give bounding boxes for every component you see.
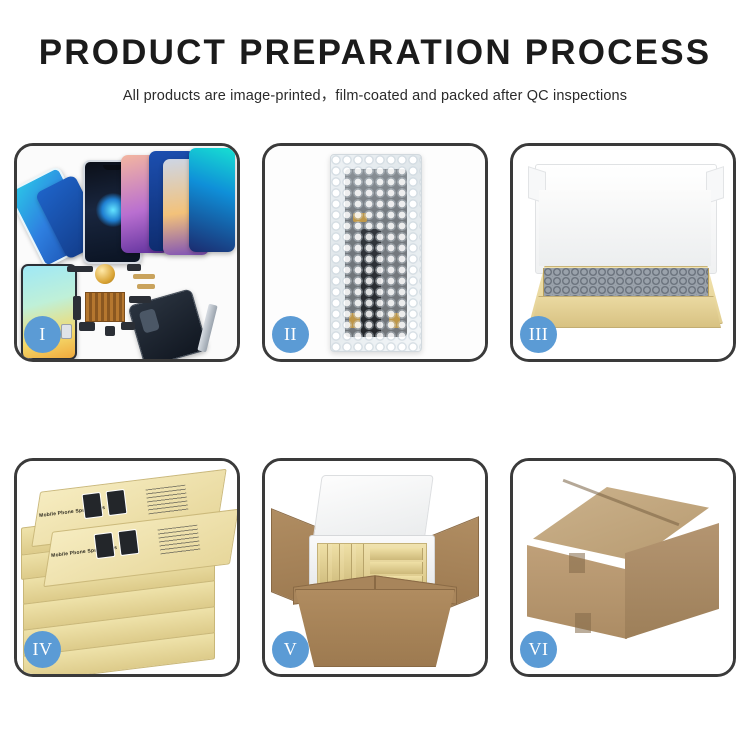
box-phone-thumb-4 xyxy=(118,529,140,556)
page-title: PRODUCT PREPARATION PROCESS xyxy=(0,34,750,73)
styrofoam-lid-icon xyxy=(312,475,434,543)
part-chip-6 xyxy=(121,322,135,330)
process-panel-grid: I II III xyxy=(14,143,736,677)
box-phone-thumb-2 xyxy=(106,489,128,516)
panel-badge-3: III xyxy=(520,316,557,353)
box-front-panel-icon xyxy=(531,296,721,328)
box-spec-lines-1 xyxy=(146,485,189,516)
process-panel-4[interactable]: Mobile Phone Spare Parts Mobile Phone Sp… xyxy=(14,458,240,677)
box-spec-lines-2 xyxy=(158,525,201,556)
panel-badge-4: IV xyxy=(24,631,61,668)
carton-body-icon xyxy=(295,589,455,667)
part-chip-7 xyxy=(129,296,151,303)
panel-badge-1: I xyxy=(24,316,61,353)
part-chip-4 xyxy=(79,322,95,331)
process-panel-2[interactable]: II xyxy=(262,143,488,362)
panel-badge-6: VI xyxy=(520,631,557,668)
logic-board-icon xyxy=(85,292,125,322)
vibration-motor-icon xyxy=(95,264,115,284)
panel-badge-2: II xyxy=(272,316,309,353)
part-flex-1 xyxy=(133,274,155,279)
carton-tape-lower xyxy=(575,613,591,633)
part-flex-2 xyxy=(137,284,155,289)
bubble-texture-overlay xyxy=(331,155,421,351)
bubble-wrap-fill-icon xyxy=(543,268,709,300)
part-chip-1 xyxy=(67,266,93,272)
page-subtitle: All products are image-printed，film-coat… xyxy=(0,84,750,105)
process-panel-5[interactable]: V xyxy=(262,458,488,677)
page-header: PRODUCT PREPARATION PROCESS All products… xyxy=(0,0,750,105)
bubble-wrap-package xyxy=(330,154,422,352)
foam-sheet-icon xyxy=(539,190,711,266)
process-panel-3[interactable]: III xyxy=(510,143,736,362)
part-chip-5 xyxy=(105,326,115,336)
part-chip-3 xyxy=(73,296,81,320)
process-panel-1[interactable]: I xyxy=(14,143,240,362)
box-phone-thumb-3 xyxy=(94,532,116,559)
box-phone-thumb-1 xyxy=(82,492,104,519)
phone-teal-icon xyxy=(189,148,235,252)
part-chip-2 xyxy=(127,264,141,271)
process-panel-6[interactable]: VI xyxy=(510,458,736,677)
panel-badge-5: V xyxy=(272,631,309,668)
carton-tape-upper xyxy=(569,553,585,573)
part-connector-icon xyxy=(61,324,72,339)
